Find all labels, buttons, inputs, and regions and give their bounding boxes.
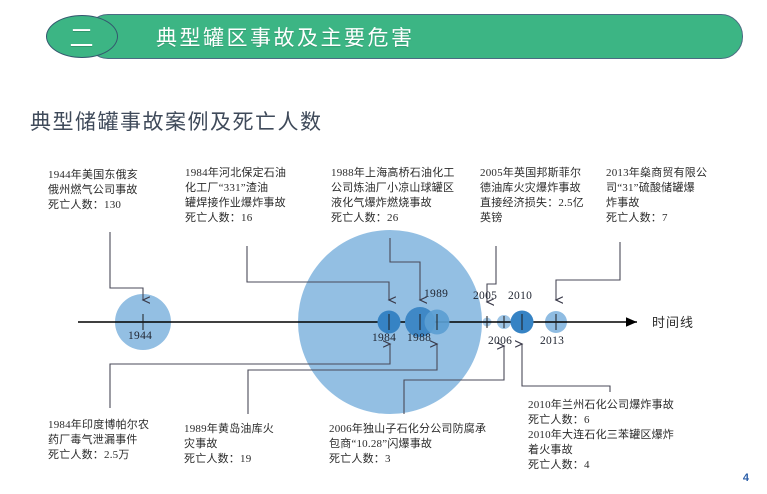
callout-1988-shanghai: 1988年上海高桥石油化工 公司炼油厂小凉山球罐区 液化气爆炸燃烧事故 死亡人数… [331,166,483,226]
page-number: 4 [743,472,749,484]
year-label-1984: 1984 [372,332,396,344]
year-label-2010: 2010 [508,290,532,302]
year-label-2005: 2005 [473,290,497,302]
connector-2013-shen [556,242,620,300]
year-label-1988: 1988 [407,332,431,344]
callout-2010-lanzhou-dalian: 2010年兰州石化公司爆炸事故 死亡人数：6 2010年大连石化三苯罐区爆炸 着… [528,398,728,473]
slide: 二 典型罐区事故及主要危害 典型储罐事故案例及死亡人数 [0,0,767,494]
axis-label-timeline: 时间线 [652,312,694,331]
callout-1984-bhopal: 1984年印度博帕尔农 药厂毒气泄漏事件 死亡人数：2.5万 [48,418,188,463]
callout-2013-shen: 2013年燊商贸有限公 司“31”硫酸储罐爆 炸事故 死亡人数：7 [606,166,728,226]
year-label-1944: 1944 [128,330,152,342]
year-label-1989: 1989 [424,288,448,300]
callout-1989-huangdao: 1989年黄岛油库火 灾事故 死亡人数：19 [184,422,314,467]
callout-2005-buncefield: 2005年英国邦斯菲尔 德油库火灾爆炸事故 直接经济损失：2.5亿 英镑 [480,166,602,226]
callout-1984-baoding: 1984年河北保定石油 化工厂“331”渣油 罐焊接作业爆炸事故 死亡人数：16 [185,166,325,226]
connector-1944-ohio [110,232,143,300]
callout-1944-ohio: 1944年美国东俄亥 俄州燃气公司事故 死亡人数：130 [48,168,178,213]
callout-2006-dushanzi: 2006年独山子石化分公司防腐承 包商“10.28”闪爆事故 死亡人数：3 [329,422,519,467]
connector-2010-lanzhou-dalian [522,344,610,392]
year-label-2006: 2006 [488,335,512,347]
year-label-2013: 2013 [540,335,564,347]
